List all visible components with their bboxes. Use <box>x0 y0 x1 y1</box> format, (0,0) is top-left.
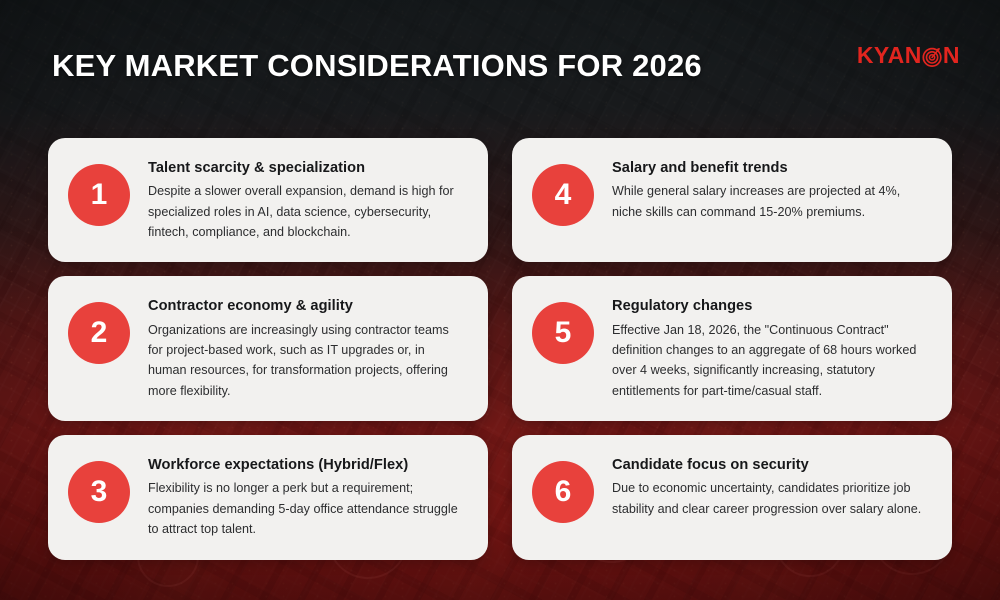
card-6[interactable]: 6 Candidate focus on security Due to eco… <box>512 435 952 559</box>
card-title: Contractor economy & agility <box>148 297 466 315</box>
card-2[interactable]: 2 Contractor economy & agility Organizat… <box>48 276 488 421</box>
brand-logo[interactable]: KYAN N <box>857 41 960 69</box>
brand-logo-text: KYAN N <box>857 44 960 67</box>
card-1[interactable]: 1 Talent scarcity & specialization Despi… <box>48 138 488 262</box>
card-title: Workforce expectations (Hybrid/Flex) <box>148 456 466 474</box>
card-3[interactable]: 3 Workforce expectations (Hybrid/Flex) F… <box>48 435 488 559</box>
card-number-badge: 1 <box>68 164 130 226</box>
card-title: Salary and benefit trends <box>612 159 930 177</box>
card-description: Flexibility is no longer a perk but a re… <box>148 478 466 539</box>
header: KEY MARKET CONSIDERATIONS FOR 2026 KYAN <box>0 0 1000 120</box>
card-number-badge: 4 <box>532 164 594 226</box>
brand-logo-text-before: KYAN <box>857 44 922 67</box>
consideration-cards-grid: 1 Talent scarcity & specialization Despi… <box>48 138 952 560</box>
card-description: Due to economic uncertainty, candidates … <box>612 478 930 519</box>
card-description: Effective Jan 18, 2026, the "Continuous … <box>612 320 930 402</box>
card-title: Talent scarcity & specialization <box>148 159 466 177</box>
card-number-badge: 2 <box>68 302 130 364</box>
card-title: Candidate focus on security <box>612 456 930 474</box>
card-5[interactable]: 5 Regulatory changes Effective Jan 18, 2… <box>512 276 952 421</box>
bullseye-target-icon <box>922 46 943 67</box>
infographic-slide: KEY MARKET CONSIDERATIONS FOR 2026 KYAN <box>0 0 1000 600</box>
card-description: Organizations are increasingly using con… <box>148 320 466 402</box>
card-number-badge: 3 <box>68 461 130 523</box>
card-number-badge: 6 <box>532 461 594 523</box>
card-number-badge: 5 <box>532 302 594 364</box>
page-title: KEY MARKET CONSIDERATIONS FOR 2026 <box>52 48 702 84</box>
card-4[interactable]: 4 Salary and benefit trends While genera… <box>512 138 952 262</box>
card-description: While general salary increases are proje… <box>612 181 930 222</box>
brand-logo-text-after: N <box>943 44 960 67</box>
card-description: Despite a slower overall expansion, dema… <box>148 181 466 242</box>
card-title: Regulatory changes <box>612 297 930 315</box>
